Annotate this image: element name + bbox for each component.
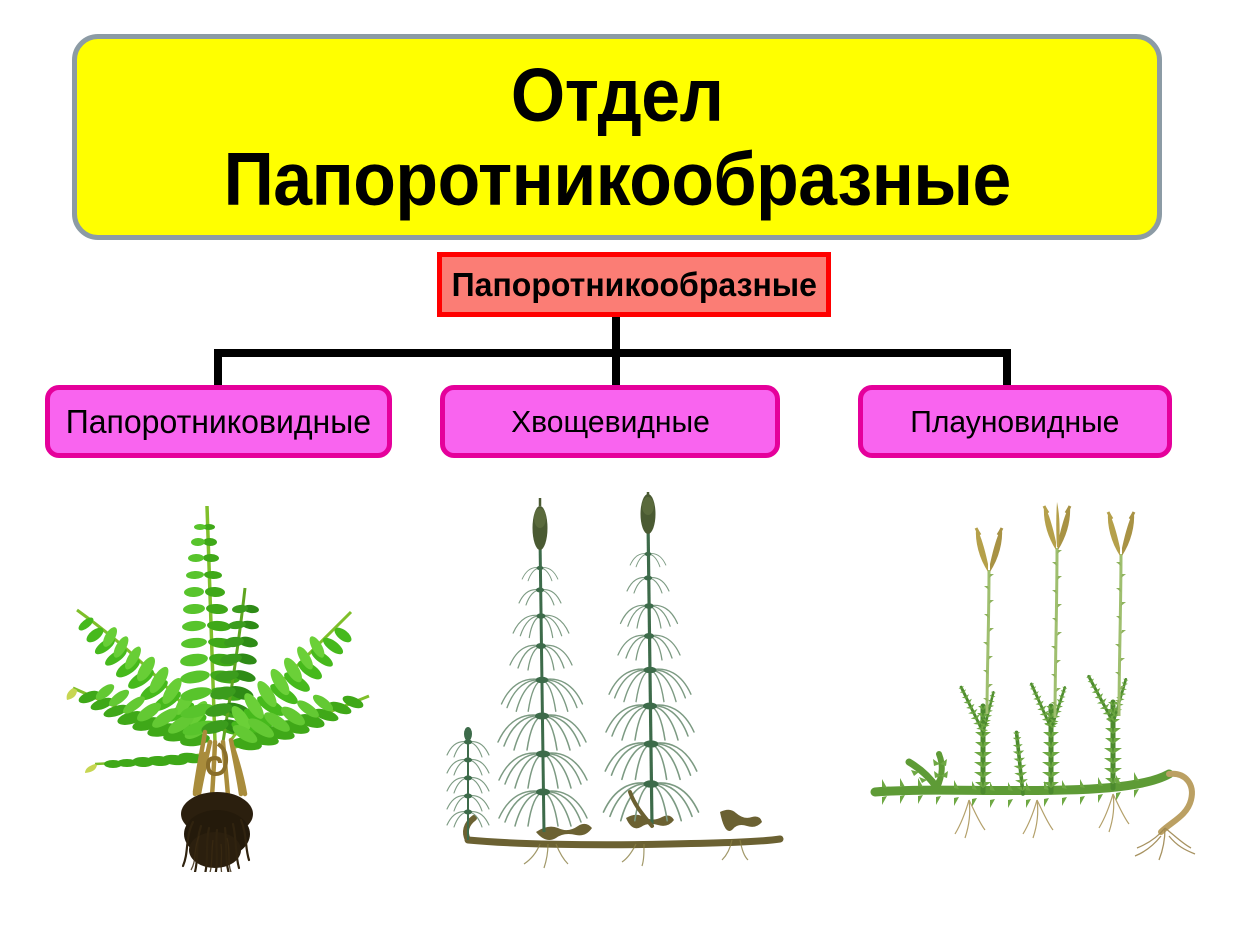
clubmoss-illustration	[865, 492, 1205, 882]
diagram-child-node-ferns: Папоротниковидные	[45, 385, 392, 458]
diagram-child-node-clubmosses: Плауновидные	[858, 385, 1172, 458]
diagram-child-node-horsetails: Хвощевидные	[440, 385, 780, 458]
horsetail-illustration	[440, 492, 785, 872]
connector-drop-right	[1003, 349, 1011, 387]
connector-drop-middle	[612, 349, 620, 387]
diagram-root-node-label: Папоротникообразные	[451, 266, 816, 304]
diagram-root-node: Папоротникообразные	[437, 252, 831, 317]
title-banner: Отдел Папоротникообразные	[72, 34, 1162, 240]
diagram-child-node-label: Хвощевидные	[511, 404, 710, 440]
fern-illustration	[55, 492, 375, 872]
connector-drop-left	[214, 349, 222, 387]
page-title: Отдел Папоротникообразные	[223, 53, 1010, 221]
diagram-child-node-label: Плауновидные	[910, 404, 1119, 440]
diagram-child-node-label: Папоротниковидные	[66, 403, 371, 441]
